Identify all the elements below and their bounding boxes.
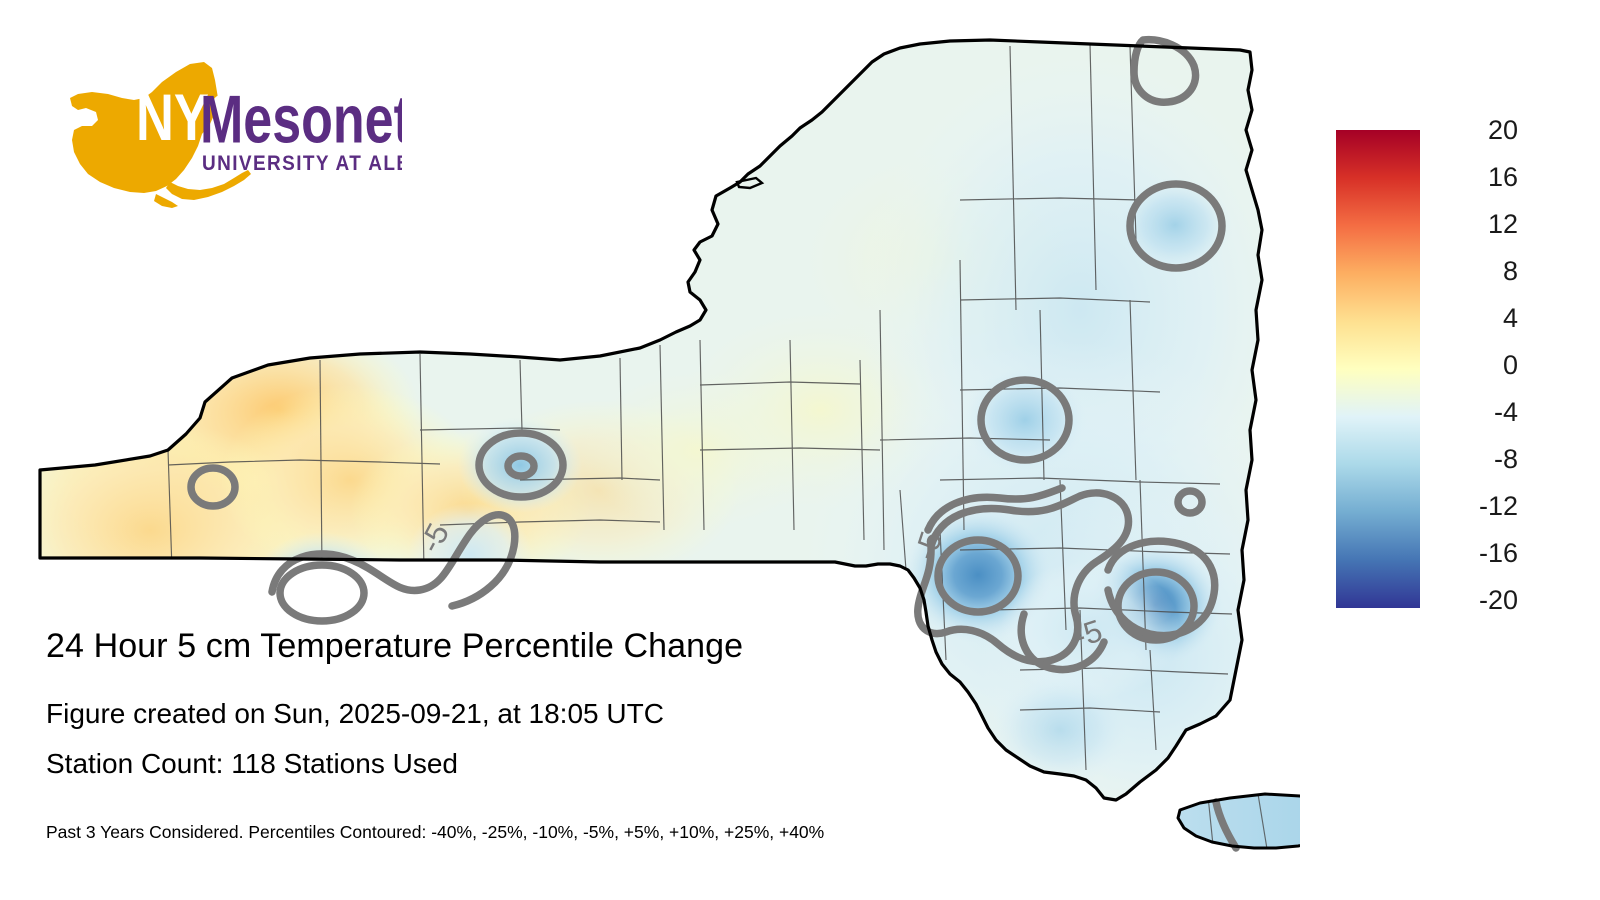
cbar-tick-neg4: -4 <box>1426 399 1518 426</box>
cbar-tick-4: 4 <box>1426 305 1518 332</box>
colorbar-panel: 20 16 12 8 4 0 -4 -8 -12 -16 -20 <box>1330 120 1580 620</box>
cbar-tick-0: 0 <box>1426 352 1518 379</box>
colorbar-gradient <box>1336 130 1420 608</box>
page-title: 24 Hour 5 cm Temperature Percentile Chan… <box>46 627 743 666</box>
contour-ring-southern-tier <box>280 565 364 621</box>
cbar-tick-neg12: -12 <box>1426 493 1518 520</box>
cbar-tick-neg8: -8 <box>1426 446 1518 473</box>
cbar-tick-8: 8 <box>1426 258 1518 285</box>
cbar-tick-neg16: -16 <box>1426 540 1518 567</box>
cbar-tick-neg20: -20 <box>1426 587 1518 614</box>
cbar-tick-20: 20 <box>1426 117 1518 144</box>
station-count-text: Station Count: 118 Stations Used <box>46 748 458 780</box>
colorbar-tick-labels: 20 16 12 8 4 0 -4 -8 -12 -16 -20 <box>1426 120 1546 620</box>
contour-footnote-text: Past 3 Years Considered. Percentiles Con… <box>46 822 824 843</box>
cbar-tick-16: 16 <box>1426 164 1518 191</box>
cbar-tick-12: 12 <box>1426 211 1518 238</box>
figure-created-text: Figure created on Sun, 2025-09-21, at 18… <box>46 698 664 730</box>
